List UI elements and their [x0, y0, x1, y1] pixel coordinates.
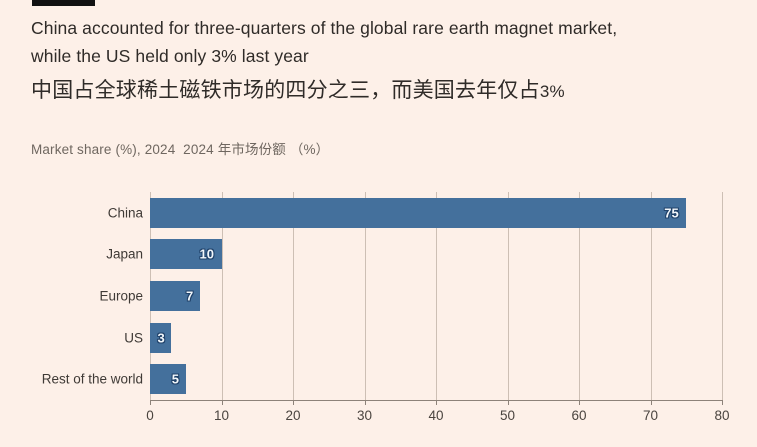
x-axis-tick	[436, 400, 437, 405]
x-axis-tick	[365, 400, 366, 405]
headline-line-2: while the US held only 3% last year	[31, 42, 731, 70]
category-label: China	[108, 205, 143, 220]
x-axis-tick	[651, 400, 652, 405]
bar-value-label: 3	[157, 330, 164, 345]
bar-row[interactable]: 10	[150, 239, 722, 269]
bar-row[interactable]: 5	[150, 364, 722, 394]
category-label: Europe	[99, 289, 143, 304]
headline-english: China accounted for three-quarters of th…	[31, 14, 731, 70]
bar-value-label: 10	[200, 247, 214, 262]
x-axis-tick-label: 10	[214, 408, 229, 423]
x-axis-tick-label: 80	[714, 408, 729, 423]
brand-accent-bar	[32, 0, 95, 6]
headline-line-1: China accounted for three-quarters of th…	[31, 14, 731, 42]
x-axis-tick	[722, 400, 723, 405]
headline-chinese-percent: 3%	[540, 82, 565, 101]
x-axis-tick	[150, 400, 151, 405]
category-label-wrap: Rest of the world	[0, 364, 143, 394]
bar-row[interactable]: 3	[150, 323, 722, 353]
category-label-wrap: Japan	[0, 239, 143, 269]
gridline	[722, 192, 723, 400]
bar-value-label: 7	[186, 289, 193, 304]
category-label: Japan	[106, 247, 143, 262]
headline-chinese-text: 中国占全球稀土磁铁市场的四分之三，而美国去年仅占	[31, 79, 540, 102]
bar-row[interactable]: 7	[150, 281, 722, 311]
x-axis-tick-label: 40	[428, 408, 443, 423]
x-axis-tick-label: 70	[643, 408, 658, 423]
category-label-wrap: US	[0, 323, 143, 353]
bar-row[interactable]: 75	[150, 198, 722, 228]
x-axis-tick-label: 60	[571, 408, 586, 423]
x-axis-tick-label: 0	[146, 408, 154, 423]
bar-value-label: 75	[664, 205, 678, 220]
category-label-wrap: China	[0, 198, 143, 228]
category-label: Rest of the world	[42, 372, 143, 387]
category-label: US	[124, 330, 143, 345]
bar-chart: 7510735 01020304050607080 ChinaJapanEuro…	[0, 180, 757, 430]
bar-value-label: 5	[172, 372, 179, 387]
plot-area: 7510735	[150, 192, 722, 400]
category-label-wrap: Europe	[0, 281, 143, 311]
bar[interactable]	[150, 198, 686, 228]
x-axis-tick	[222, 400, 223, 405]
x-axis-tick	[508, 400, 509, 405]
chart-subtitle: Market share (%), 2024 2024 年市场份额 （%）	[31, 138, 329, 158]
x-axis-tick-label: 30	[357, 408, 372, 423]
x-axis-tick-label: 50	[500, 408, 515, 423]
x-axis-tick	[293, 400, 294, 405]
chart-page: China accounted for three-quarters of th…	[0, 0, 757, 447]
headline-chinese: 中国占全球稀土磁铁市场的四分之三，而美国去年仅占3%	[31, 76, 731, 107]
bar[interactable]	[150, 364, 186, 394]
x-axis-tick	[579, 400, 580, 405]
x-axis-tick-label: 20	[285, 408, 300, 423]
